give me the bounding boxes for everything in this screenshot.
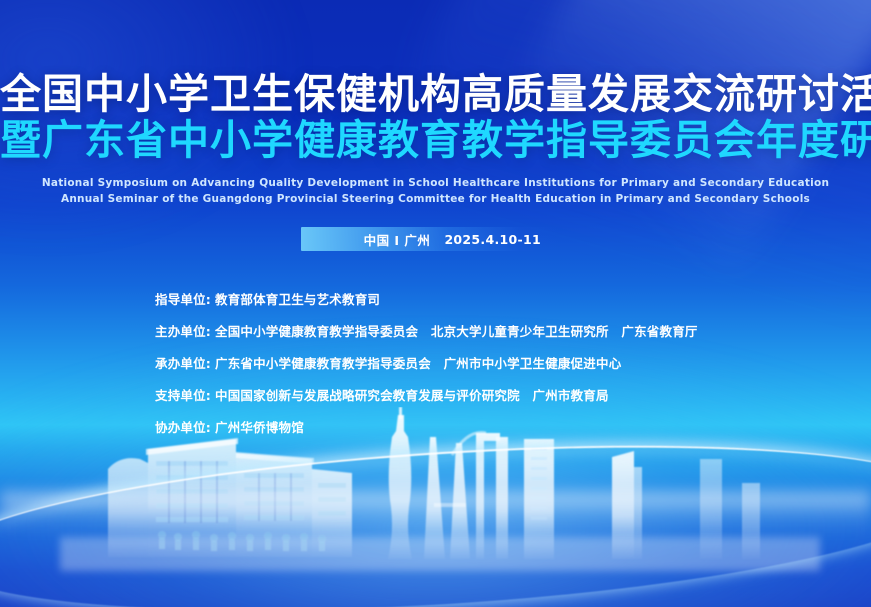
poster-title: 全国中小学卫生保健机构高质量发展交流研讨活动 暨广东省中小学健康教育教学指导委员… <box>0 74 871 162</box>
organizer-value: 全国中小学健康教育教学指导委员会 北京大学儿童青少年卫生研究所 广东省教育厅 <box>215 321 698 340</box>
organizer-value: 中国国家创新与发展战略研究会教育发展与评价研究院 广州市教育局 <box>215 385 609 404</box>
poster-subtitle-english: National Symposium on Advancing Quality … <box>0 176 871 208</box>
organizer-row: 支持单位: 中国国家创新与发展战略研究会教育发展与评价研究院 广州市教育局 <box>155 385 698 404</box>
organizer-label: 承办单位: <box>155 353 211 372</box>
date-location-badge: 中国 I 广州 2025.4.10-11 <box>301 227 559 251</box>
organizer-row: 协办单位: 广州华侨博物馆 <box>155 417 698 436</box>
title-line-secondary: 暨广东省中小学健康教育教学指导委员会年度研讨活动 <box>0 120 871 162</box>
subtitle-line-2: Annual Seminar of the Guangdong Provinci… <box>0 192 871 208</box>
organizer-value: 教育部体育卫生与艺术教育司 <box>215 289 380 308</box>
badge-date-text: 2025.4.10-11 <box>444 232 541 247</box>
organizer-row: 承办单位: 广东省中小学健康教育教学指导委员会 广州市中小学卫生健康促进中心 <box>155 353 698 372</box>
organizer-label: 指导单位: <box>155 289 211 308</box>
organizer-label: 协办单位: <box>155 417 211 436</box>
organizer-value: 广州华侨博物馆 <box>215 417 304 436</box>
badge-location-text: 中国 I 广州 <box>364 230 431 249</box>
organizer-row: 主办单位: 全国中小学健康教育教学指导委员会 北京大学儿童青少年卫生研究所 广东… <box>155 321 698 340</box>
organizer-row: 指导单位: 教育部体育卫生与艺术教育司 <box>155 289 698 308</box>
organizer-label: 主办单位: <box>155 321 211 340</box>
organizer-list: 指导单位: 教育部体育卫生与艺术教育司 主办单位: 全国中小学健康教育教学指导委… <box>155 289 698 449</box>
subtitle-line-1: National Symposium on Advancing Quality … <box>0 176 871 192</box>
title-line-primary: 全国中小学卫生保健机构高质量发展交流研讨活动 <box>0 74 871 116</box>
organizer-value: 广东省中小学健康教育教学指导委员会 广州市中小学卫生健康促进中心 <box>215 353 621 372</box>
conference-poster: 全国中小学卫生保健机构高质量发展交流研讨活动 暨广东省中小学健康教育教学指导委员… <box>0 0 871 607</box>
organizer-label: 支持单位: <box>155 385 211 404</box>
